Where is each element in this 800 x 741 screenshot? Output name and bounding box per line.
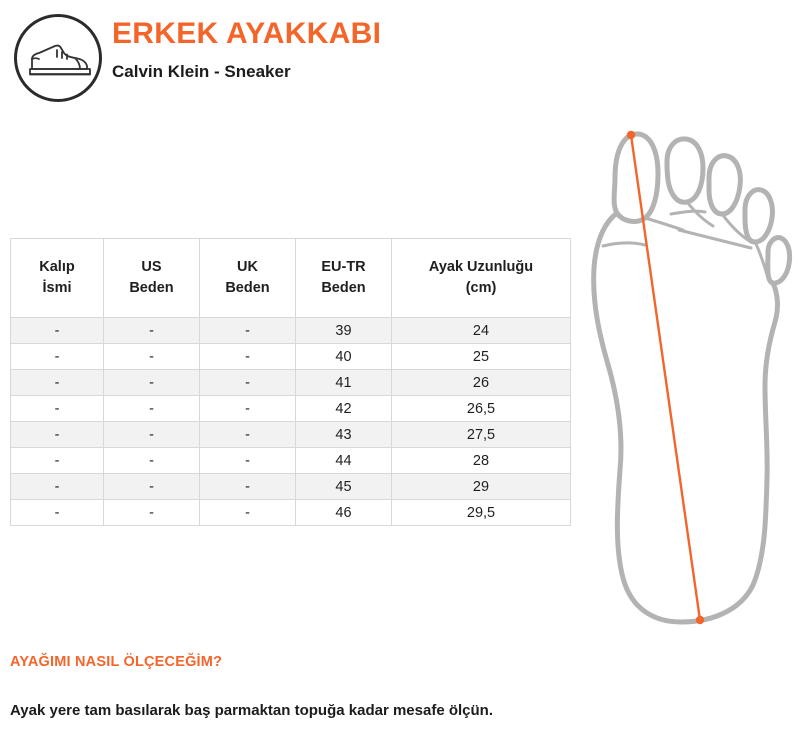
measurement-line [627, 131, 704, 624]
table-header-row: Kalıp İsmi US Beden UK Beden EU-TR Beden… [11, 239, 571, 318]
cell-uk: - [200, 318, 296, 344]
header-line-1: Ayak Uzunluğu [429, 259, 533, 275]
cell-us: - [104, 344, 200, 370]
cell-uk: - [200, 396, 296, 422]
column-header-uk-beden: UK Beden [200, 239, 296, 318]
cell-length-cm: 28 [392, 448, 571, 474]
column-header-us-beden: US Beden [104, 239, 200, 318]
cell-uk: - [200, 370, 296, 396]
cell-length-cm: 26,5 [392, 396, 571, 422]
cell-uk: - [200, 422, 296, 448]
cell-kalip: - [11, 318, 104, 344]
cell-us: - [104, 396, 200, 422]
table-row: - - - 44 28 [11, 448, 571, 474]
page-subtitle: Calvin Klein - Sneaker [112, 62, 291, 82]
size-chart-table: Kalıp İsmi US Beden UK Beden EU-TR Beden… [10, 238, 571, 526]
cell-kalip: - [11, 422, 104, 448]
cell-kalip: - [11, 344, 104, 370]
sneaker-icon [14, 14, 102, 102]
table-row: - - - 41 26 [11, 370, 571, 396]
cell-us: - [104, 448, 200, 474]
column-header-eu-tr-beden: EU-TR Beden [296, 239, 392, 318]
table-row: - - - 45 29 [11, 474, 571, 500]
cell-eu-tr: 41 [296, 370, 392, 396]
header-line-1: UK [237, 259, 258, 275]
cell-length-cm: 29 [392, 474, 571, 500]
cell-length-cm: 25 [392, 344, 571, 370]
cell-us: - [104, 318, 200, 344]
cell-length-cm: 26 [392, 370, 571, 396]
cell-kalip: - [11, 396, 104, 422]
table-body: - - - 39 24 - - - 40 25 - - - 41 26 - - … [11, 318, 571, 526]
cell-uk: - [200, 474, 296, 500]
cell-us: - [104, 370, 200, 396]
cell-us: - [104, 422, 200, 448]
header-line-2: İsmi [42, 280, 71, 296]
header-line-2: Beden [225, 280, 269, 296]
table-row: - - - 46 29,5 [11, 500, 571, 526]
cell-kalip: - [11, 370, 104, 396]
cell-eu-tr: 43 [296, 422, 392, 448]
cell-uk: - [200, 448, 296, 474]
page-header: ERKEK AYAKKABI Calvin Klein - Sneaker [0, 0, 800, 118]
cell-eu-tr: 39 [296, 318, 392, 344]
cell-kalip: - [11, 474, 104, 500]
foot-measurement-diagram: AYAK UZUNLUĞU [575, 118, 800, 638]
cell-length-cm: 29,5 [392, 500, 571, 526]
cell-us: - [104, 500, 200, 526]
header-line-1: Kalıp [39, 259, 74, 275]
cell-eu-tr: 44 [296, 448, 392, 474]
page-title: ERKEK AYAKKABI [112, 17, 381, 51]
measure-instructions-heading: AYAĞIMI NASIL ÖLÇECEĞİM? [10, 654, 222, 670]
cell-us: - [104, 474, 200, 500]
header-line-2: Beden [129, 280, 173, 296]
cell-kalip: - [11, 500, 104, 526]
cell-uk: - [200, 500, 296, 526]
header-line-1: EU-TR [321, 259, 365, 275]
cell-length-cm: 27,5 [392, 422, 571, 448]
column-header-kalip-ismi: Kalıp İsmi [11, 239, 104, 318]
table-header: Kalıp İsmi US Beden UK Beden EU-TR Beden… [11, 239, 571, 318]
column-header-ayak-uzunlugu: Ayak Uzunluğu (cm) [392, 239, 571, 318]
cell-kalip: - [11, 448, 104, 474]
cell-eu-tr: 40 [296, 344, 392, 370]
header-line-2: Beden [321, 280, 365, 296]
cell-uk: - [200, 344, 296, 370]
cell-eu-tr: 45 [296, 474, 392, 500]
table-row: - - - 43 27,5 [11, 422, 571, 448]
foot-outline-icon [594, 134, 790, 622]
header-line-1: US [141, 259, 161, 275]
cell-eu-tr: 46 [296, 500, 392, 526]
table-row: - - - 39 24 [11, 318, 571, 344]
table-row: - - - 42 26,5 [11, 396, 571, 422]
header-line-2: (cm) [466, 280, 497, 296]
cell-length-cm: 24 [392, 318, 571, 344]
table-row: - - - 40 25 [11, 344, 571, 370]
cell-eu-tr: 42 [296, 396, 392, 422]
measure-instructions-note: Ayak yere tam basılarak baş parmaktan to… [10, 702, 493, 719]
